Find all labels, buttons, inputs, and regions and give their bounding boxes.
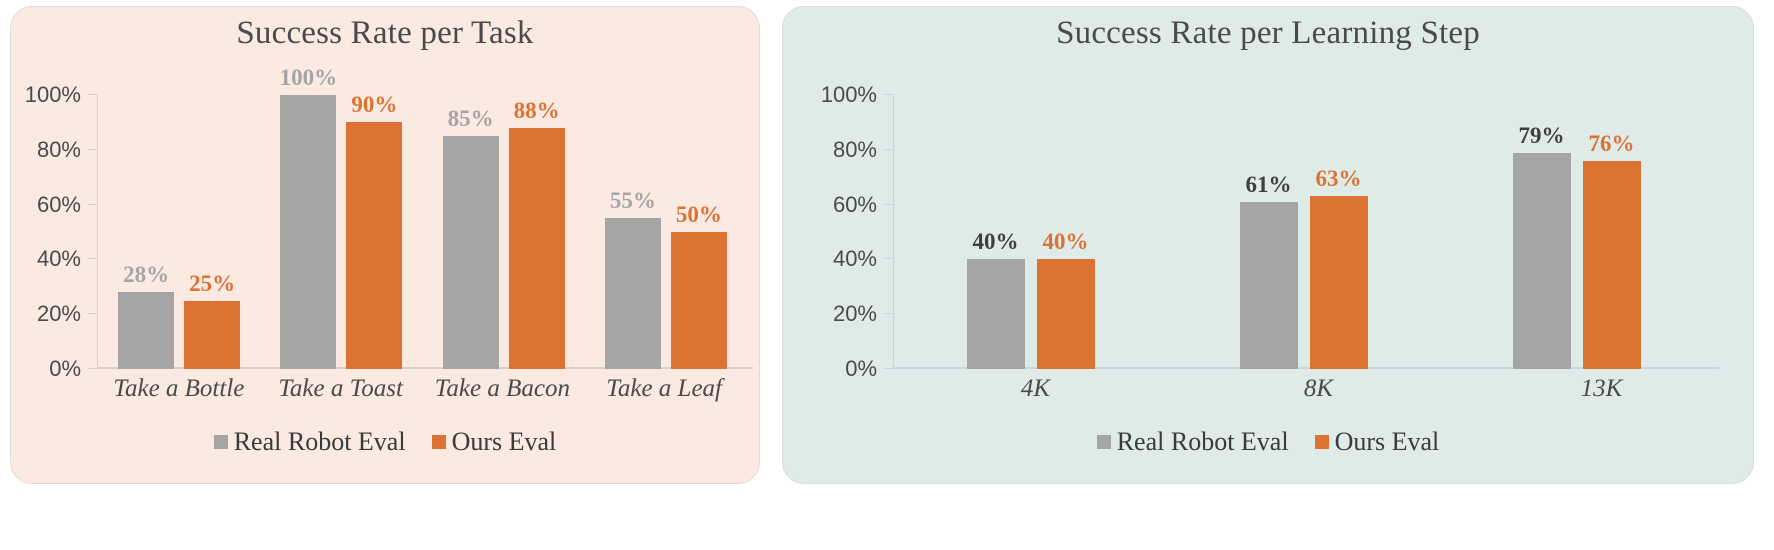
legend-swatch-gray-icon [214,435,228,449]
bar-pair: 28%25% [118,95,240,369]
category-label: 8K [1177,375,1460,403]
bar-gray[interactable]: 61% [1240,202,1298,369]
y-tick-mark [884,258,893,259]
bar-orange[interactable]: 50% [671,232,727,369]
bar-pair: 61%63% [1240,95,1368,369]
chart-title-left: Success Rate per Task [11,15,759,52]
bar-value-label: 40% [1043,229,1089,255]
bar-orange[interactable]: 25% [184,301,240,370]
category-label: Take a Toast [260,375,422,403]
legend-right: Real Robot Eval Ours Eval [783,427,1753,457]
y-axis-label: 40% [37,246,81,272]
bar-value-label: 85% [448,106,494,132]
bar-value-label: 28% [123,262,169,288]
legend-left: Real Robot Eval Ours Eval [11,427,759,457]
y-axis-label: 0% [49,356,81,382]
category-label: Take a Leaf [583,375,745,403]
y-axis-label: 20% [37,301,81,327]
bar-value-label: 63% [1316,166,1362,192]
category-label: Take a Bottle [98,375,260,403]
y-tick-mark [884,204,893,205]
y-tick-mark [88,313,97,314]
bar-value-label: 88% [514,98,560,124]
bar-value-label: 40% [973,229,1019,255]
category-label: Take a Bacon [422,375,584,403]
bar-gray[interactable]: 79% [1513,153,1571,369]
bar-groups-left: 28%25%100%90%85%88%55%50% [98,95,747,369]
y-axis-label: 100% [25,82,81,108]
bar-value-label: 25% [189,271,235,297]
figure-container: Success Rate per Task 28%25%100%90%85%88… [0,0,1774,550]
bar-group: 40%40% [894,95,1167,369]
y-axis-label: 60% [37,192,81,218]
legend-swatch-orange-icon [1315,435,1329,449]
bar-pair: 100%90% [280,95,402,369]
bar-group: 79%76% [1440,95,1713,369]
legend-swatch-gray-icon [1097,435,1111,449]
bar-orange[interactable]: 88% [509,128,565,369]
y-axis-label: 60% [833,192,877,218]
bar-pair: 55%50% [605,95,727,369]
bar-group: 61%63% [1167,95,1440,369]
bar-pair: 85%88% [443,95,565,369]
bar-group: 28%25% [98,95,260,369]
bar-value-label: 55% [610,188,656,214]
category-label: 4K [894,375,1177,403]
bar-value-label: 76% [1589,131,1635,157]
legend-swatch-orange-icon [432,435,446,449]
y-axis-label: 80% [37,137,81,163]
legend-label-real-robot-eval: Real Robot Eval [1117,427,1289,457]
bar-value-label: 50% [676,202,722,228]
bar-group: 55%50% [585,95,747,369]
y-tick-mark [88,368,97,369]
legend-label-ours-eval: Ours Eval [1335,427,1440,457]
bar-orange[interactable]: 90% [346,122,402,369]
category-labels-right: 4K8K13K [894,375,1743,403]
category-labels-left: Take a BottleTake a ToastTake a BaconTak… [98,375,745,403]
y-tick-mark [88,258,97,259]
bar-group: 100%90% [260,95,422,369]
bar-gray[interactable]: 40% [967,259,1025,369]
y-tick-mark [884,313,893,314]
y-tick-mark [88,149,97,150]
bar-value-label: 61% [1246,172,1292,198]
y-axis-label: 20% [833,301,877,327]
legend-item-real-robot-eval[interactable]: Real Robot Eval [214,427,406,457]
plot-area-left: 28%25%100%90%85%88%55%50% 0%20%40%60%80%… [97,95,747,369]
legend-label-ours-eval: Ours Eval [452,427,557,457]
chart-title-right: Success Rate per Learning Step [783,15,1753,52]
y-axis-label: 100% [821,82,877,108]
bar-orange[interactable]: 63% [1310,196,1368,369]
bar-gray[interactable]: 100% [280,95,336,369]
y-tick-mark [884,149,893,150]
y-tick-mark [884,94,893,95]
bar-orange[interactable]: 40% [1037,259,1095,369]
y-axis-label: 80% [833,137,877,163]
y-axis-label: 0% [845,356,877,382]
bar-pair: 79%76% [1513,95,1641,369]
bar-value-label: 90% [351,92,397,118]
legend-item-ours-eval[interactable]: Ours Eval [1315,427,1440,457]
bar-orange[interactable]: 76% [1583,161,1641,369]
legend-label-real-robot-eval: Real Robot Eval [234,427,406,457]
bar-pair: 40%40% [967,95,1095,369]
category-label: 13K [1460,375,1743,403]
bar-value-label: 79% [1519,123,1565,149]
bar-gray[interactable]: 85% [443,136,499,369]
y-tick-mark [88,94,97,95]
plot-area-right: 40%40%61%63%79%76% 0%20%40%60%80%100% [893,95,1713,369]
legend-item-ours-eval[interactable]: Ours Eval [432,427,557,457]
bar-gray[interactable]: 55% [605,218,661,369]
legend-item-real-robot-eval[interactable]: Real Robot Eval [1097,427,1289,457]
y-axis-label: 40% [833,246,877,272]
y-tick-mark [88,204,97,205]
bar-gray[interactable]: 28% [118,292,174,369]
chart-panel-success-rate-per-learning-step: Success Rate per Learning Step 40%40%61%… [782,6,1754,484]
bar-value-label: 100% [280,65,338,91]
y-tick-mark [884,368,893,369]
bar-group: 85%88% [423,95,585,369]
bar-groups-right: 40%40%61%63%79%76% [894,95,1713,369]
chart-panel-success-rate-per-task: Success Rate per Task 28%25%100%90%85%88… [10,6,760,484]
